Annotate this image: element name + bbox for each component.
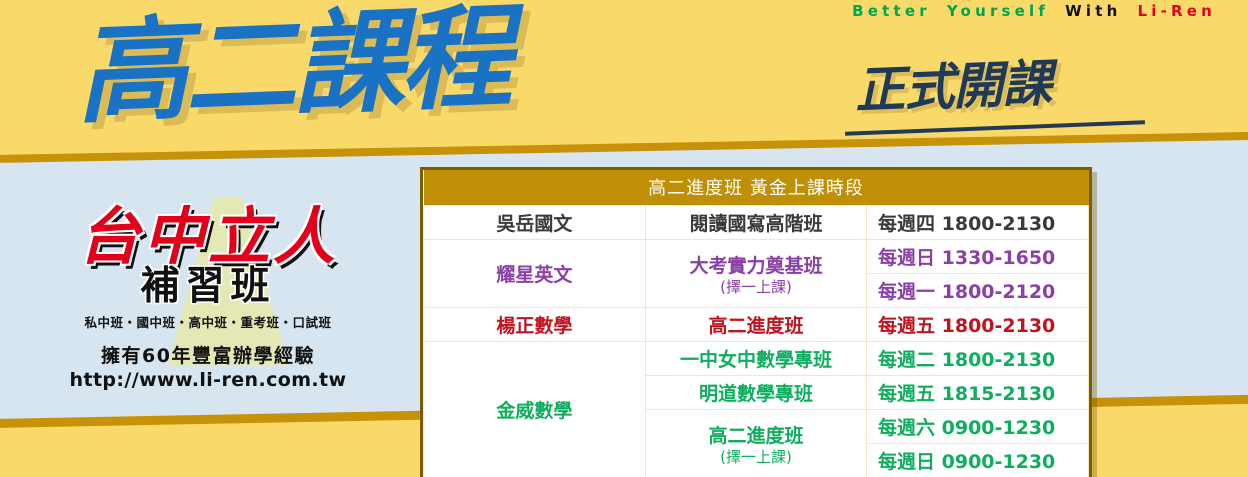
cell-course-note: (擇一上課) — [650, 276, 863, 297]
page-title: 高二課程 — [74, 2, 510, 131]
cell-time: 每週六 0900-1230 — [867, 410, 1089, 444]
page-subtitle: 正式開課 — [854, 58, 1052, 115]
table-row: 楊正數學高二進度班每週五 1800-2130 — [424, 308, 1089, 342]
cell-teacher: 吳岳國文 — [424, 206, 646, 240]
tagline: BetterYourselfWithLi-Ren — [852, 2, 1232, 20]
table-row: 吳岳國文閱讀國寫高階班每週四 1800-2130 — [424, 206, 1089, 240]
logo: 台中立人 補習班 私中班・國中班・高中班・重考班・口試班 擁有60年豐富辦學經驗… — [18, 205, 398, 393]
table-row: 耀星英文大考實力奠基班(擇一上課)每週日 1330-1650 — [424, 240, 1089, 274]
cell-teacher: 耀星英文 — [424, 240, 646, 308]
tagline-word-4: Li-Ren — [1137, 2, 1216, 20]
tagline-word-2: Yourself — [947, 2, 1049, 20]
cell-course: 高二進度班(擇一上課) — [645, 410, 867, 477]
logo-class-list: 私中班・國中班・高中班・重考班・口試班 — [18, 312, 398, 331]
cell-course: 閱讀國寫高階班 — [645, 206, 867, 240]
cell-course: 一中女中數學專班 — [645, 342, 867, 376]
cell-time: 每週一 1800-2120 — [867, 274, 1089, 308]
cell-course: 明道數學專班 — [645, 376, 867, 410]
schedule-table-header-cell: 高二進度班 黃金上課時段 — [424, 170, 1089, 206]
logo-brand-subtitle: 補習班 — [18, 266, 398, 309]
cell-course-note: (擇一上課) — [650, 446, 863, 467]
logo-brand-name: 台中立人 — [18, 205, 398, 268]
table-header-row: 高二進度班 黃金上課時段 — [424, 170, 1089, 206]
cell-time: 每週四 1800-2130 — [867, 206, 1089, 240]
cell-time: 每週二 1800-2130 — [867, 342, 1089, 376]
cell-time: 每週五 1815-2130 — [867, 376, 1089, 410]
cell-course: 大考實力奠基班(擇一上課) — [645, 240, 867, 308]
logo-experience-text: 擁有60年豐富辦學經驗 — [18, 345, 398, 369]
cell-time: 每週五 1800-2130 — [867, 308, 1089, 342]
schedule-table-head: 高二進度班 黃金上課時段 — [424, 170, 1089, 206]
cell-course: 高二進度班 — [645, 308, 867, 342]
schedule-table-container: 高二進度班 黃金上課時段 吳岳國文閱讀國寫高階班每週四 1800-2130耀星英… — [420, 167, 1092, 477]
table-row: 金威數學一中女中數學專班每週二 1800-2130 — [424, 342, 1089, 376]
cell-time: 每週日 0900-1230 — [867, 444, 1089, 477]
cell-time: 每週日 1330-1650 — [867, 240, 1089, 274]
promo-banner: BetterYourselfWithLi-Ren 高二課程 正式開課 台中立人 … — [0, 0, 1248, 477]
tagline-word-1: Better — [852, 2, 931, 20]
logo-website-url[interactable]: http://www.li-ren.com.tw — [18, 369, 398, 393]
tagline-word-3: With — [1065, 2, 1121, 20]
schedule-table: 高二進度班 黃金上課時段 吳岳國文閱讀國寫高階班每週四 1800-2130耀星英… — [423, 170, 1089, 477]
cell-teacher: 楊正數學 — [424, 308, 646, 342]
cell-teacher: 金威數學 — [424, 342, 646, 477]
schedule-table-body: 吳岳國文閱讀國寫高階班每週四 1800-2130耀星英文大考實力奠基班(擇一上課… — [424, 206, 1089, 477]
